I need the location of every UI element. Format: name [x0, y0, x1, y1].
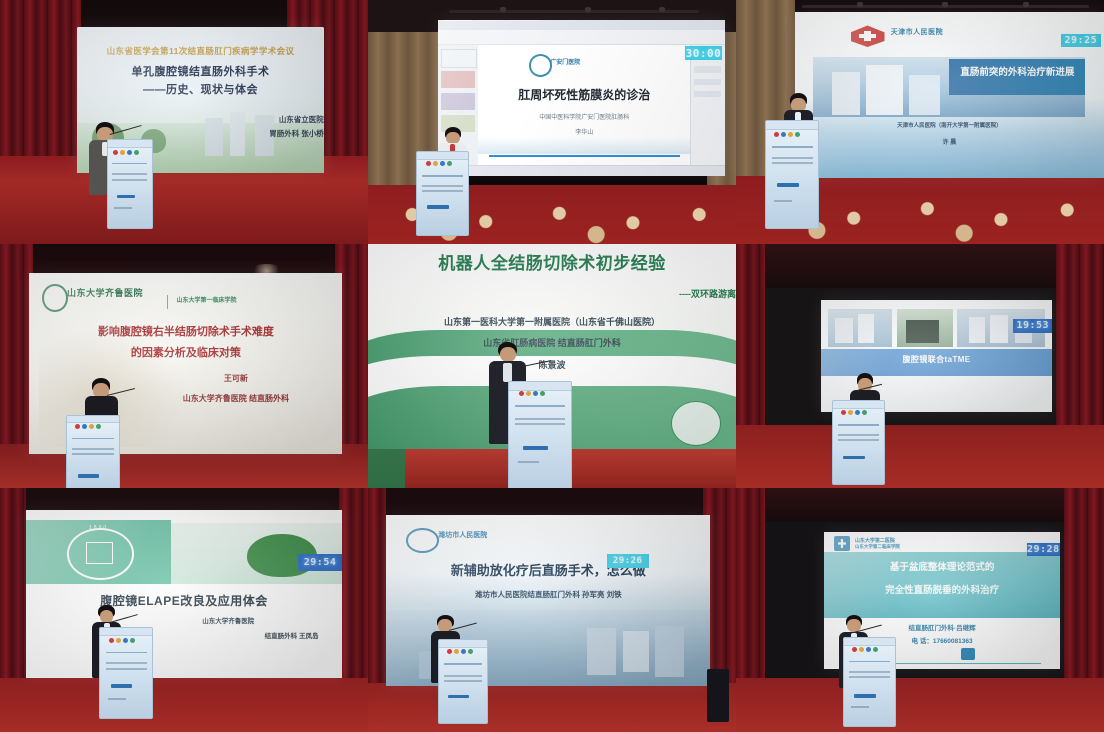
projection-screen-7: 1890 腹腔镜ELAPE改良及应用体会 山东大学齐鲁医院 结直肠外科 王凤岛 … [26, 510, 342, 678]
slide-speaker-4: 山东大学齐鲁医院 结直肠外科 [29, 394, 342, 404]
slide-affiliation-3: 天津市人民医院（南开大学第一附属医院） [795, 123, 1104, 130]
auditorium-scene-5: 机器人全结肠切除术初步经验 ----双环路游离 山东第一医科大学第一附属医院（山… [368, 244, 736, 488]
slide-logo-text-8: 潍坊市人民医院 [438, 530, 487, 540]
slide-logo-text-4: 山东大学齐鲁医院 [67, 286, 143, 299]
photo-cell-9[interactable]: 山东大学第二医院 山东大学第二临床学院 基于盆底整体理论范式的 完全性直肠脱垂的… [736, 488, 1104, 732]
stage-floor-6 [736, 425, 1104, 488]
countdown-timer-7: 29:54 [298, 554, 342, 571]
slide-title-2: 肛周坏死性筋膜炎的诊治 [478, 88, 690, 103]
auditorium-scene-6: 腹腔镜联合taTME 19:53 [736, 244, 1104, 488]
slide-title-6: 腹腔镜联合taTME [821, 355, 1053, 365]
presentation-app-2: 广安门医院 肛周坏死性筋膜炎的诊治 中国中医科学院广安门医院肛肠科 李华山 30… [438, 20, 725, 176]
countdown-timer-9: 29:28 [1027, 543, 1060, 557]
podium-9 [843, 637, 897, 727]
conference-banner-1: 山东省医学会第11次结直肠肛门疾病学学术会议 [77, 46, 324, 57]
slide-affiliation-4: 王可新 [29, 374, 342, 384]
podium-4 [66, 415, 120, 488]
auditorium-scene-2: 广安门医院 肛周坏死性筋膜炎的诊治 中国中医科学院广安门医院肛肠科 李华山 30… [368, 0, 736, 244]
podium-8 [438, 639, 488, 724]
countdown-timer-2: 30:00 [685, 46, 722, 60]
slide-3: 天津市人民医院 直肠前突的外科治疗新进展 天津市人民医院（南开大学第一附属医院）… [795, 12, 1104, 178]
slide-subtitle-5: ----双环路游离 [368, 289, 736, 300]
photo-cell-5[interactable]: 机器人全结肠切除术初步经验 ----双环路游离 山东第一医科大学第一附属医院（山… [368, 244, 736, 488]
speaker-cabinet-8 [707, 669, 729, 723]
podium-3 [765, 120, 819, 229]
podium-1 [107, 139, 153, 229]
slide-affiliation-8: 潍坊市人民医院结直肠肛门外科 孙军亮 刘铁 [386, 590, 710, 599]
auditorium-scene-8: 潍坊市人民医院 新辅助放化疗后直肠手术，怎么做 潍坊市人民医院结直肠肛门外科 孙… [368, 488, 736, 732]
slide-speaker-7: 结直肠外科 王凤岛 [26, 633, 342, 641]
slide-logo-text-2: 广安门医院 [550, 57, 580, 66]
slide-affiliation-7: 山东大学齐鲁医院 [26, 618, 342, 626]
stage-floor-8 [368, 683, 736, 732]
photo-grid: 山东省医学会第11次结直肠肛门疾病学学术会议 单孔腹腔镜结直肠外科手术 ——历史… [0, 0, 1104, 732]
auditorium-scene-3: 天津市人民医院 直肠前突的外科治疗新进展 天津市人民医院（南开大学第一附属医院）… [736, 0, 1104, 244]
podium-6 [832, 400, 886, 485]
slide-logo-text-9: 山东大学第二医院 [855, 537, 895, 544]
slide-logo-text-4b: 山东大学第一临床学院 [176, 295, 236, 304]
podium-7 [99, 627, 153, 719]
photo-cell-6[interactable]: 腹腔镜联合taTME 19:53 [736, 244, 1104, 488]
app-sidebar-2 [690, 45, 725, 167]
slide-speaker-5: 陈景波 [368, 360, 736, 371]
auditorium-scene-9: 山东大学第二医院 山东大学第二临床学院 基于盆底整体理论范式的 完全性直肠脱垂的… [736, 488, 1104, 732]
slide-title-9b: 完全性直肠脱垂的外科治疗 [824, 585, 1060, 597]
slide-title-9a: 基于盆底整体理论范式的 [824, 562, 1060, 574]
photo-cell-4[interactable]: 山东大学齐鲁医院 山东大学第一临床学院 影响腹腔镜右半结肠切除术手术难度 的因素… [0, 244, 368, 488]
stage-floor-7 [0, 678, 368, 732]
slide-canvas-2: 广安门医院 肛周坏死性筋膜炎的诊治 中国中医科学院广安门医院肛肠科 李华山 [478, 45, 690, 167]
slide-logo-year-7: 1890 [89, 525, 108, 531]
photo-cell-3[interactable]: 天津市人民医院 直肠前突的外科治疗新进展 天津市人民医院（南开大学第一附属医院）… [736, 0, 1104, 244]
slide-title-7: 腹腔镜ELAPE改良及应用体会 [26, 594, 342, 609]
auditorium-scene-7: 1890 腹腔镜ELAPE改良及应用体会 山东大学齐鲁医院 结直肠外科 王凤岛 … [0, 488, 368, 732]
stage-floor-9 [736, 678, 1104, 732]
app-ribbon-2 [438, 30, 725, 45]
slide-affiliation-2: 中国中医科学院广安门医院肛肠科 [478, 115, 690, 123]
slide-logo-text-9b: 山东大学第二临床学院 [855, 544, 900, 550]
photo-cell-7[interactable]: 1890 腹腔镜ELAPE改良及应用体会 山东大学齐鲁医院 结直肠外科 王凤岛 … [0, 488, 368, 732]
photo-cell-8[interactable]: 潍坊市人民医院 新辅助放化疗后直肠手术，怎么做 潍坊市人民医院结直肠肛门外科 孙… [368, 488, 736, 732]
slide-title-1a: 单孔腹腔镜结直肠外科手术 [77, 66, 324, 80]
photo-cell-1[interactable]: 山东省医学会第11次结直肠肛门疾病学学术会议 单孔腹腔镜结直肠外科手术 ——历史… [0, 0, 368, 244]
slide-title-5: 机器人全结肠切除术初步经验 [368, 253, 736, 274]
auditorium-scene-1: 山东省医学会第11次结直肠肛门疾病学学术会议 单孔腹腔镜结直肠外科手术 ——历史… [0, 0, 368, 244]
slide-title-4a: 影响腹腔镜右半结肠切除术手术难度 [29, 326, 342, 340]
slide-title-8: 新辅助放化疗后直肠手术，怎么做 [386, 563, 710, 579]
slide-affiliation-5a: 山东第一医科大学第一附属医院（山东省千佛山医院） [368, 317, 736, 328]
projection-screen-3: 天津市人民医院 直肠前突的外科治疗新进展 天津市人民医院（南开大学第一附属医院）… [795, 12, 1104, 178]
slide-title-3: 直肠前突的外科治疗新进展 [949, 67, 1085, 79]
photo-cell-2[interactable]: 广安门医院 肛周坏死性筋膜炎的诊治 中国中医科学院广安门医院肛肠科 李华山 30… [368, 0, 736, 244]
countdown-timer-3: 29:25 [1061, 34, 1101, 47]
slide-title-1b: ——历史、现状与体会 [77, 84, 324, 98]
slide-speaker-3: 许 晨 [795, 140, 1104, 148]
projection-screen-2: 广安门医院 肛周坏死性筋膜炎的诊治 中国中医科学院广安门医院肛肠科 李华山 30… [438, 20, 725, 176]
app-statusbar-2 [438, 165, 725, 175]
countdown-timer-8: 29:26 [607, 554, 649, 568]
podium-5 [508, 381, 573, 488]
slide-title-4b: 的因素分析及临床对策 [29, 347, 342, 361]
slide-logo-text-3: 天津市人民医院 [891, 27, 944, 37]
slide-7: 1890 腹腔镜ELAPE改良及应用体会 山东大学齐鲁医院 结直肠外科 王凤岛 … [26, 510, 342, 678]
countdown-timer-6: 19:53 [1013, 319, 1052, 332]
auditorium-scene-4: 山东大学齐鲁医院 山东大学第一临床学院 影响腹腔镜右半结肠切除术手术难度 的因素… [0, 244, 368, 488]
podium-2 [416, 151, 470, 236]
slide-affiliation-5b: 山东省肛肠病医院 结直肠肛门外科 [368, 338, 736, 349]
